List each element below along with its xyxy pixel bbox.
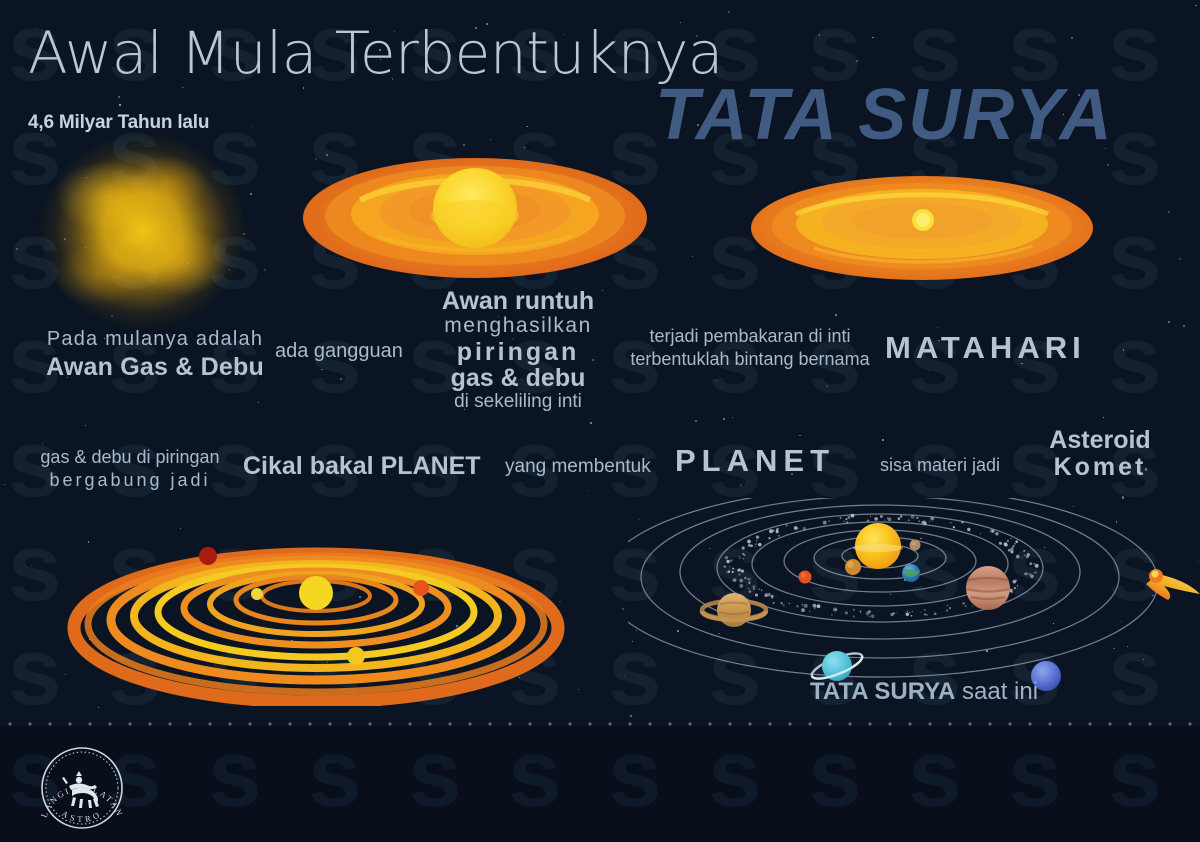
caption-stage-5-line1: gas & debu di piringan	[30, 446, 230, 469]
caption-stage-4-line2: terbentuklah bintang bernama	[630, 349, 869, 369]
protoplanetary-disk-illustration	[300, 138, 650, 293]
gas-dust-cloud-illustration	[18, 128, 268, 343]
caption-stage-5-line2: bergabung jadi	[30, 469, 230, 492]
caption-stage-3-line5: di sekeliling inti	[418, 392, 618, 412]
caption-stage-2: ada gangguan	[275, 340, 403, 363]
diagram-label-bold: TATA SURYA	[810, 678, 955, 705]
caption-cikal-bakal-planet: Cikal bakal PLANET	[243, 452, 481, 481]
caption-stage-1-light: Pada mulanya adalah	[30, 328, 280, 351]
footer-watermark-pattern	[0, 726, 1200, 842]
caption-komet: Komet	[1020, 454, 1180, 481]
seal-bottom-text: ASTRO	[60, 808, 104, 824]
caption-yang-membentuk: yang membentuk	[505, 456, 651, 478]
langitselatan-seal-logo[interactable]: LANGITSELATAN ASTRO	[36, 742, 128, 834]
diagram-label-light: saat ini	[962, 678, 1038, 705]
caption-stage-5: gas & debu di piringan bergabung jadi	[30, 446, 230, 493]
star-formation-disk-illustration	[748, 166, 1096, 290]
caption-sisa-materi: sisa materi jadi	[880, 455, 1000, 476]
caption-stage-3-line1: Awan runtuh	[418, 288, 618, 315]
caption-stage-4: terjadi pembakaran di inti terbentuklah …	[630, 325, 870, 370]
caption-stage-3-line4: gas & debu	[418, 365, 618, 392]
caption-stage-3-line2: menghasilkan	[418, 315, 618, 337]
caption-matahari: MATAHARI	[885, 330, 1086, 366]
caption-asteroid: Asteroid	[1020, 427, 1180, 454]
caption-stage-4-line1: terjadi pembakaran di inti	[649, 326, 850, 346]
svg-text:ASTRO: ASTRO	[60, 808, 104, 824]
infographic-poster: Awal Mula Terbentuknya 4,6 Milyar Tahun …	[0, 0, 1200, 842]
protoplanet-disk-illustration	[66, 516, 566, 706]
caption-planet: PLANET	[675, 443, 835, 479]
caption-stage-1-bold: Awan Gas & Debu	[30, 353, 280, 382]
solar-system-illustration	[628, 498, 1200, 698]
page-title: Awal Mula Terbentuknya	[28, 24, 723, 82]
big-title-tata-surya: TATA SURYA	[655, 74, 1114, 156]
caption-asteroid-komet: Asteroid Komet	[1020, 427, 1180, 481]
footer: LANGITSELATAN ASTRO langitselatan i	[0, 726, 1200, 842]
caption-stage-3-line3: piringan	[418, 339, 618, 366]
caption-stage-3: Awan runtuh menghasilkan piringan gas & …	[418, 288, 618, 412]
solar-system-diagram-label: TATA SURYA saat ini	[810, 678, 1038, 706]
caption-stage-1: Pada mulanya adalah Awan Gas & Debu	[30, 328, 280, 382]
